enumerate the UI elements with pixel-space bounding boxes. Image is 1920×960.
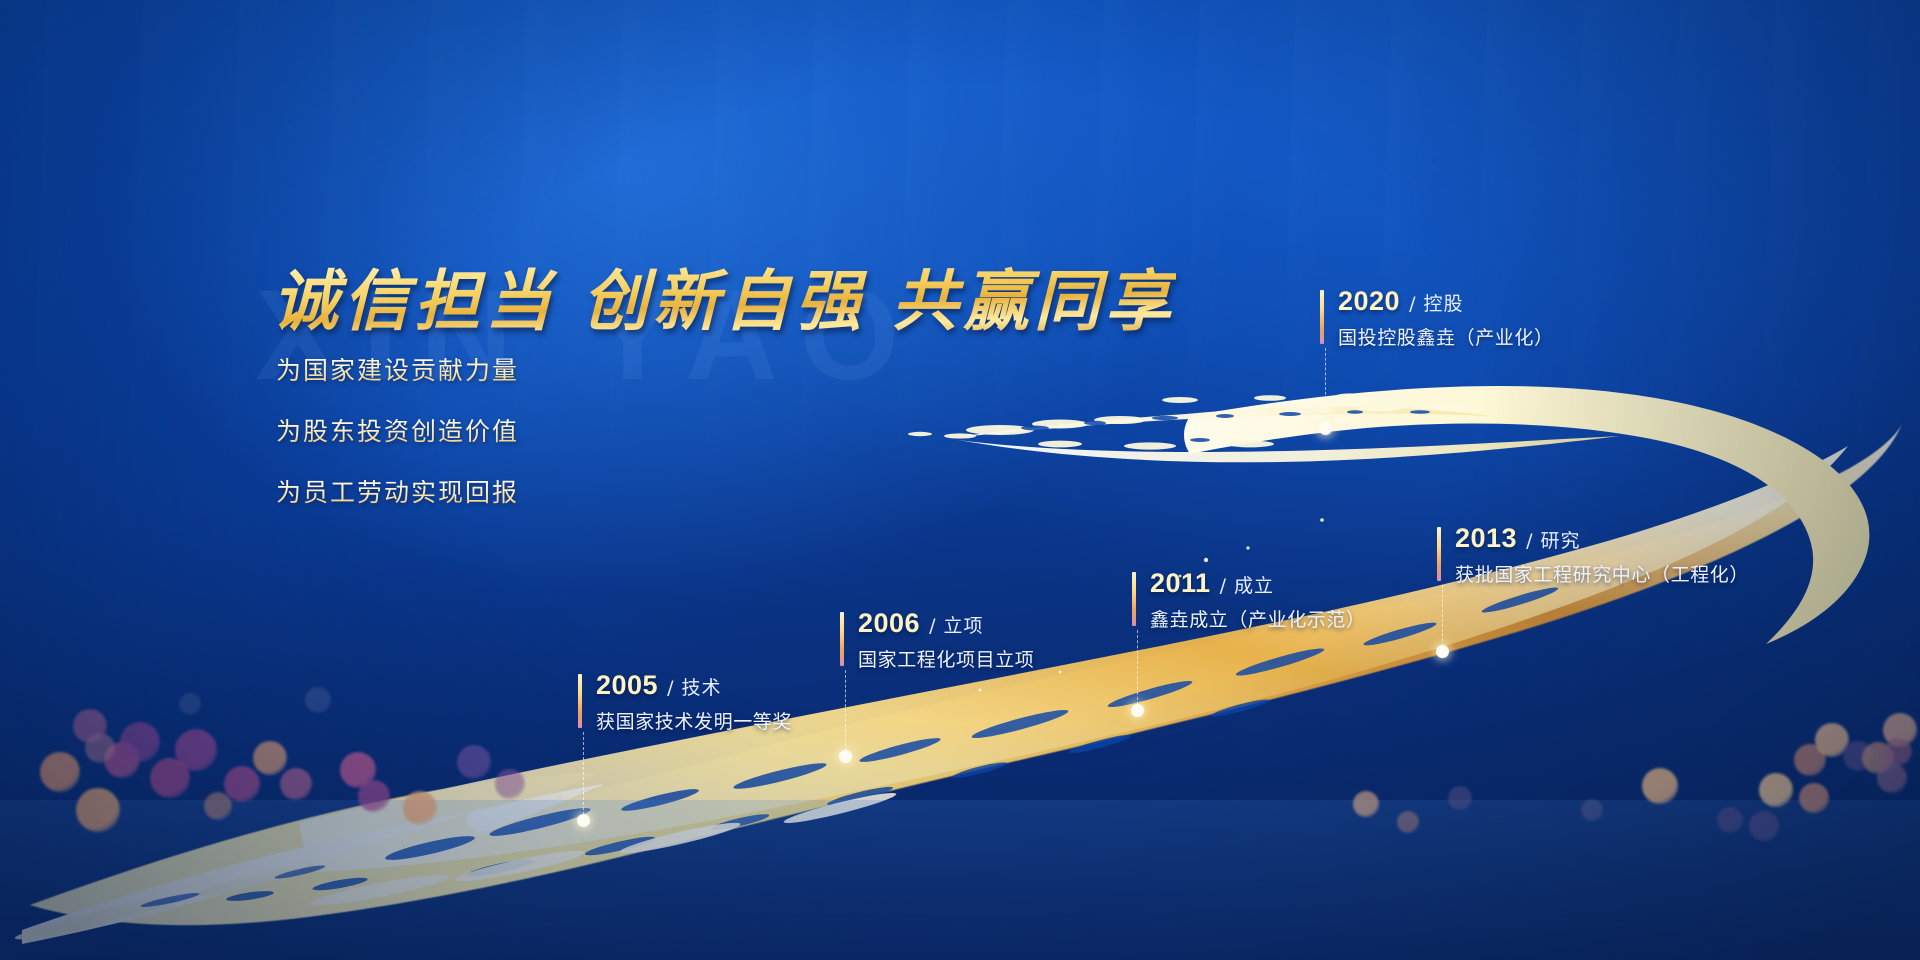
bokeh-circle [358,780,390,812]
timeline-entry-2020[interactable]: 2020/ 控股国投控股鑫垚（产业化） [1320,288,1554,348]
slogan-item: 为股东投资创造价值 [276,419,519,444]
timeline-leader-line [1137,630,1138,710]
timeline-entry-2005[interactable]: 2005/ 技术获国家技术发明一等奖 [578,672,792,732]
timeline-leader-line [1325,348,1326,424]
timeline-accent-bar [1132,572,1136,626]
bokeh-circle [1642,768,1678,804]
bokeh-circle [1862,742,1894,774]
timeline-text-block: 2020/ 控股国投控股鑫垚（产业化） [1338,288,1554,348]
timeline-tag: / 成立 [1220,575,1274,597]
timeline-dot-marker[interactable] [839,750,852,763]
lower-light-band [0,800,1920,960]
timeline-year-row: 2006/ 立项 [858,610,1034,638]
timeline-year: 2011 [1150,570,1211,597]
timeline-leader-line [845,670,846,756]
bokeh-circle [457,745,491,779]
bokeh-circle [150,758,190,798]
timeline-description: 获批国家工程研究中心（工程化） [1455,566,1749,585]
timeline-text-block: 2006/ 立项国家工程化项目立项 [858,610,1034,670]
bokeh-circle [120,722,160,762]
timeline-accent-bar [1437,527,1441,581]
bokeh-circle [104,742,140,778]
bokeh-circle [1799,783,1829,813]
slogan-item: 为员工劳动实现回报 [276,480,519,505]
timeline-year-row: 2020/ 控股 [1338,288,1554,316]
timeline-year: 2013 [1455,525,1517,552]
timeline-entry-2013[interactable]: 2013/ 研究获批国家工程研究中心（工程化） [1437,525,1749,585]
timeline-year-row: 2005/ 技术 [596,672,792,700]
bokeh-circle [1448,786,1472,810]
timeline-text-block: 2005/ 技术获国家技术发明一等奖 [596,672,792,732]
headline-part-3: 共赢同享 [892,263,1176,340]
bokeh-circle [1717,807,1743,833]
slogan-list: 为国家建设贡献力量 为股东投资创造价值 为员工劳动实现回报 [276,358,519,541]
timeline-description: 国家工程化项目立项 [858,651,1034,670]
bokeh-circle [40,752,80,792]
bokeh-circle [204,792,232,820]
timeline-tag: / 控股 [1409,293,1463,315]
bokeh-circle [340,752,376,788]
timeline-leader-line [1442,585,1443,651]
bokeh-circle [179,693,201,715]
timeline-dot-marker[interactable] [1436,645,1449,658]
bokeh-circle [495,769,525,799]
timeline-text-block: 2011/ 成立鑫垚成立（产业化示范） [1150,570,1366,630]
bokeh-circle [1397,811,1419,833]
bokeh-circle [305,687,331,713]
banner-stage: XIN YAO 诚信担当创新自强共赢同享 为国家建设贡献力量 为股东投资创造价值… [0,0,1920,960]
bokeh-circle [1749,811,1779,841]
timeline-accent-bar [578,674,582,728]
bokeh-circle [280,768,312,800]
timeline-description: 获国家技术发明一等奖 [596,713,792,732]
bokeh-circle [1883,713,1917,747]
bokeh-circle [175,729,217,771]
timeline-tag: / 技术 [667,677,721,699]
timeline-text-block: 2013/ 研究获批国家工程研究中心（工程化） [1455,525,1749,585]
timeline-tag: / 立项 [929,615,983,637]
timeline-accent-bar [1320,290,1324,344]
headline-part-2: 创新自强 [582,263,866,340]
timeline-entry-2011[interactable]: 2011/ 成立鑫垚成立（产业化示范） [1132,570,1366,630]
timeline-leader-line [583,732,584,820]
headline-part-1: 诚信担当 [272,263,556,340]
timeline-year: 2006 [858,610,920,637]
bokeh-circle [85,733,115,763]
timeline-dot-marker[interactable] [577,814,590,827]
slogan-item: 为国家建设贡献力量 [276,358,519,383]
bokeh-circle [1794,744,1826,776]
bokeh-circle [1843,741,1873,771]
timeline-entry-2006[interactable]: 2006/ 立项国家工程化项目立项 [840,610,1034,670]
bokeh-circle [1884,738,1912,766]
bokeh-circle [1759,773,1793,807]
timeline-description: 鑫垚成立（产业化示范） [1150,611,1366,630]
bokeh-circle [76,788,120,832]
timeline-tag: / 研究 [1526,530,1580,552]
timeline-year: 2005 [596,672,658,699]
bokeh-circle [253,741,287,775]
page-title: 诚信担当创新自强共赢同享 [272,248,1176,344]
bokeh-circle [1353,791,1379,817]
timeline-year-row: 2011/ 成立 [1150,570,1366,598]
timeline-description: 国投控股鑫垚（产业化） [1338,329,1554,348]
timeline-year-row: 2013/ 研究 [1455,525,1749,553]
bokeh-circle [403,791,437,825]
timeline-dot-marker[interactable] [1319,422,1332,435]
bokeh-circle [224,766,260,802]
timeline-year: 2020 [1338,288,1400,315]
bokeh-circle [73,709,107,743]
timeline-dot-marker[interactable] [1131,704,1144,717]
bokeh-circle [1815,723,1849,757]
bokeh-circle [1877,763,1907,793]
bokeh-circle [1581,799,1603,821]
timeline-accent-bar [840,612,844,666]
